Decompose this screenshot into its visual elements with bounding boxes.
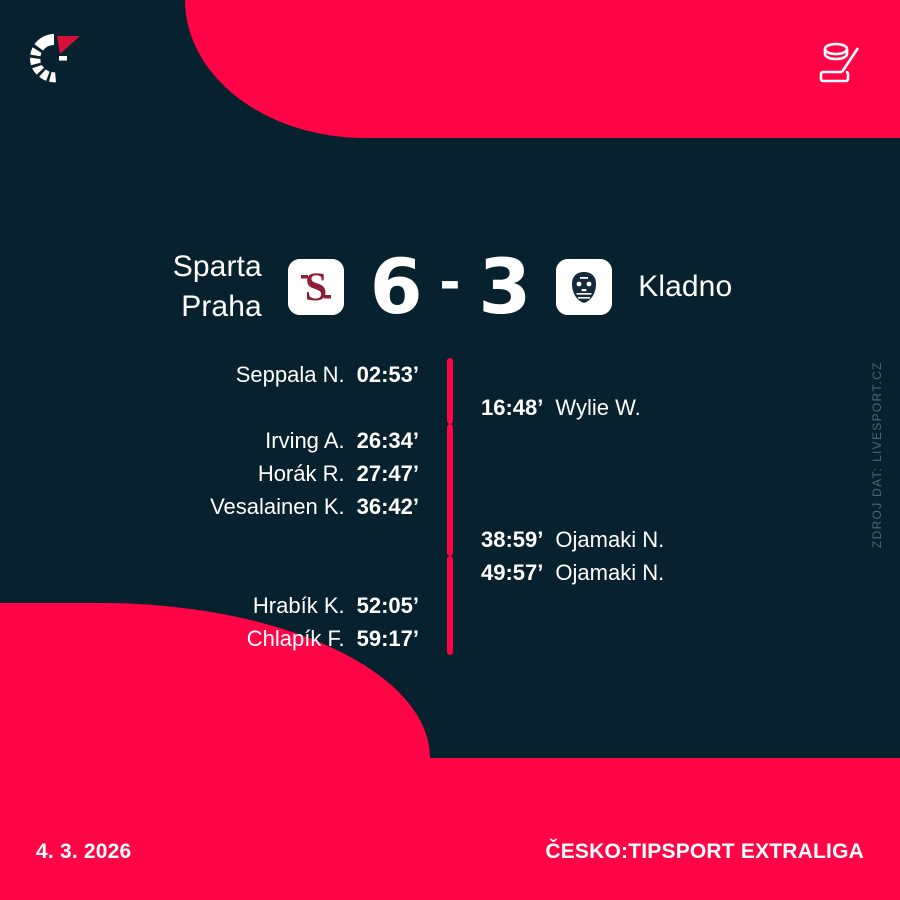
goal-divider-bar [447,358,453,391]
goal-divider-cell [435,490,465,523]
goal-row: 38:59’Ojamaki N. [0,523,900,556]
goal-away-cell: 16:48’Wylie W. [465,395,900,421]
home-score: 6 [370,249,422,325]
goal-home-cell: Hrabík K.52:05’ [0,593,435,619]
goal-divider-cell [435,556,465,589]
bottom-red-footer-shape [0,758,900,900]
goal-time: 16:48’ [481,395,543,421]
kladno-mask-crest-icon [556,259,612,315]
goal-scorer-name: Seppala N. [236,362,345,388]
goal-divider-cell [435,622,465,655]
home-team-name-line1: Sparta [82,247,262,287]
goal-divider-cell [435,457,465,490]
goal-scorer-name: Hrabík K. [253,593,345,619]
goal-time: 36:42’ [357,494,419,520]
goal-row: Irving A.26:34’ [0,424,900,457]
goal-row: 49:57’Ojamaki N. [0,556,900,589]
goal-divider-bar [447,622,453,655]
goal-scorer-name: Ojamaki N. [555,527,664,553]
goal-divider-bar [447,457,453,490]
goal-home-cell: Irving A.26:34’ [0,428,435,454]
goal-home-cell: Vesalainen K.36:42’ [0,494,435,520]
goal-scorer-name: Chlapík F. [247,626,345,652]
goal-home-cell: Seppala N.02:53’ [0,362,435,388]
svg-text:S: S [305,264,327,309]
goal-home-cell: Chlapík F.59:17’ [0,626,435,652]
data-source-note: ZDROJ DAT: LIVESPORT.CZ [870,368,892,548]
away-team-name: Kladno [612,267,818,307]
match-result-card: Sparta Praha S 6 - 3 [0,0,900,900]
goal-scorer-name: Wylie W. [555,395,640,421]
match-date: 4. 3. 2026 [36,840,131,864]
scoreboard: Sparta Praha S 6 - 3 [0,232,900,342]
goal-divider-bar [447,556,453,589]
goal-scorer-name: Vesalainen K. [210,494,345,520]
goal-row: Chlapík F.59:17’ [0,622,900,655]
away-score: 3 [478,249,530,325]
goal-scorer-name: Ojamaki N. [555,560,664,586]
goal-row: Vesalainen K.36:42’ [0,490,900,523]
home-team-name-line2: Praha [82,287,262,327]
goal-divider-cell [435,523,465,556]
top-red-banner-shape [185,0,900,138]
goal-row: 16:48’Wylie W. [0,391,900,424]
league-name: ČESKO:TIPSPORT EXTRALIGA [545,840,864,864]
goal-away-cell: 38:59’Ojamaki N. [465,527,900,553]
goal-time: 49:57’ [481,560,543,586]
goal-row: Horák R.27:47’ [0,457,900,490]
goal-row: Seppala N.02:53’ [0,358,900,391]
goal-divider-cell [435,589,465,622]
goal-scorer-name: Irving A. [265,428,344,454]
goal-time: 38:59’ [481,527,543,553]
score-block: 6 - 3 [344,249,556,325]
goal-divider-bar [447,523,453,556]
goal-time: 59:17’ [357,626,419,652]
goal-scorer-name: Horák R. [258,461,345,487]
goal-divider-bar [447,424,453,457]
goal-divider-bar [447,490,453,523]
sparta-praha-crest-icon: S [288,259,344,315]
goal-time: 26:34’ [357,428,419,454]
goal-time: 02:53’ [357,362,419,388]
goal-time: 27:47’ [357,461,419,487]
goal-divider-cell [435,391,465,424]
home-team-name: Sparta Praha [82,247,288,327]
goal-divider-bar [447,589,453,622]
goal-divider-cell [435,358,465,391]
livesport-logo-icon [24,28,84,88]
goals-list: Seppala N.02:53’16:48’Wylie W.Irving A.2… [0,358,900,655]
goal-time: 52:05’ [357,593,419,619]
goal-row: Hrabík K.52:05’ [0,589,900,622]
goal-home-cell: Horák R.27:47’ [0,461,435,487]
ice-hockey-icon [812,36,868,86]
goal-divider-bar [447,391,453,424]
goal-away-cell: 49:57’Ojamaki N. [465,560,900,586]
score-separator: - [440,250,461,312]
goal-divider-cell [435,424,465,457]
